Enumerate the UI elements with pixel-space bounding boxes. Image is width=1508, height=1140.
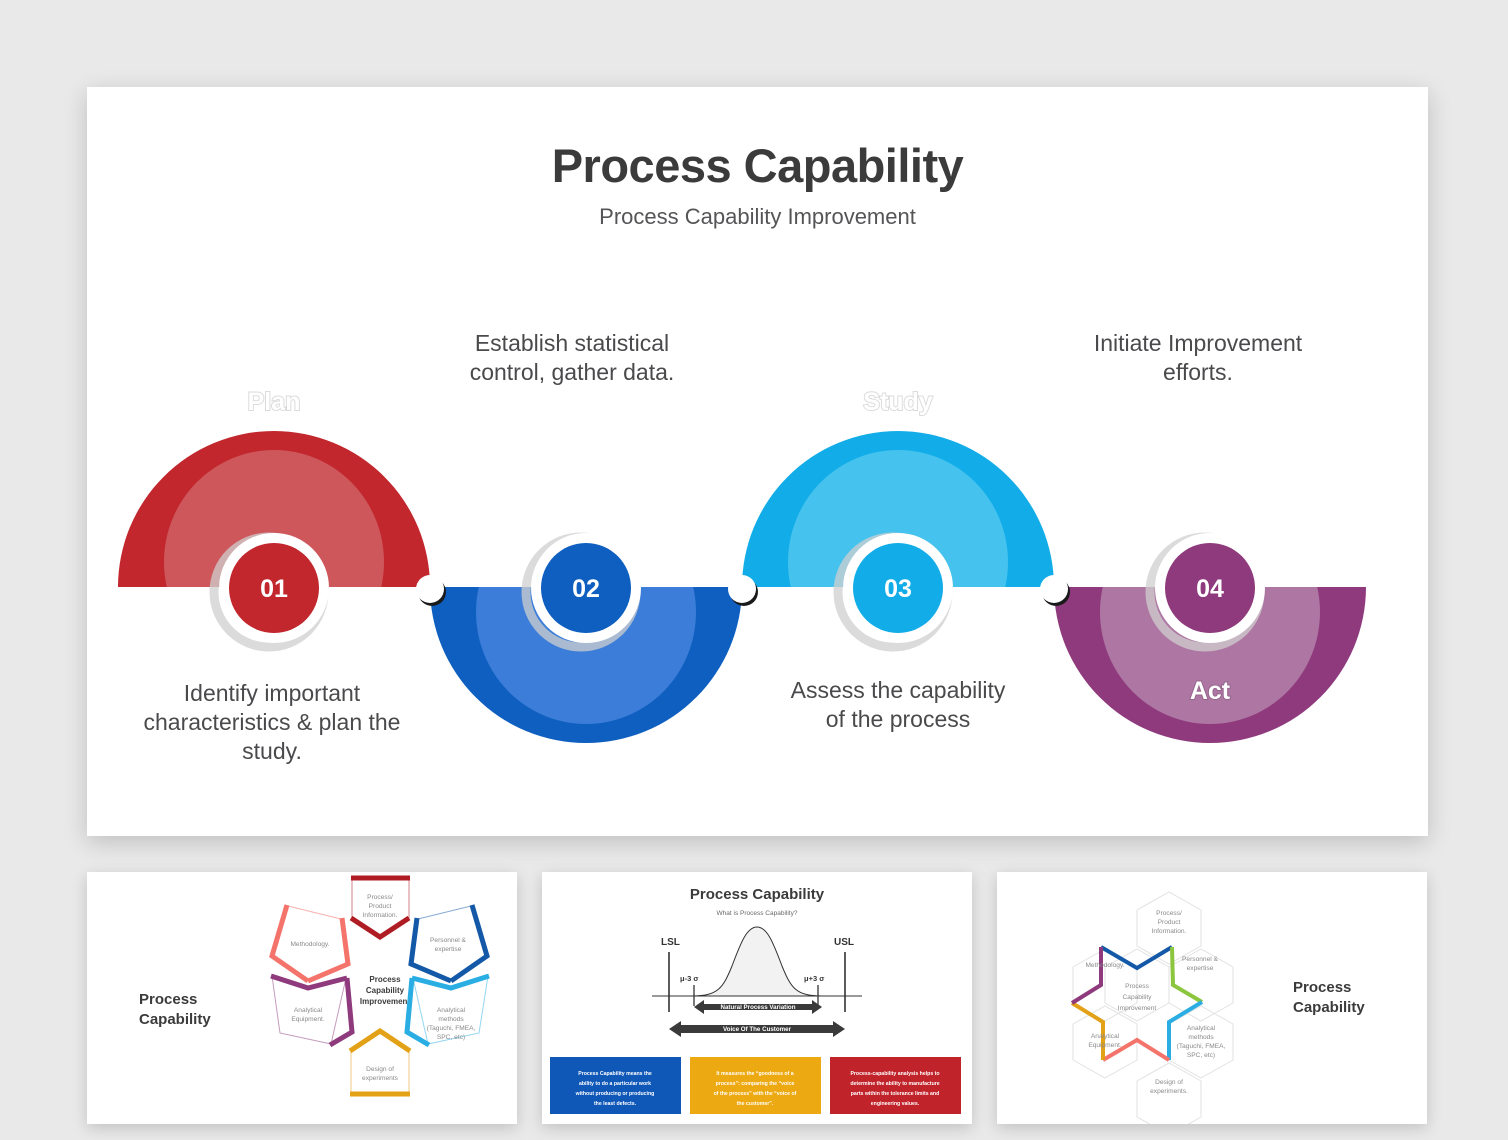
box3-line-1: Process-capability analysis helps to [850, 1071, 939, 1077]
thumb1-title: Process Capability [139, 991, 211, 1028]
thumb3-hex-personnel-expertise[interactable]: Personnel & expertise [1182, 956, 1219, 972]
step-2-number: 02 [572, 575, 600, 603]
junction-knob-1-2 [416, 575, 446, 606]
t3-hex4-line-1: Design of [1155, 1079, 1183, 1086]
step-1-number: 01 [260, 575, 288, 603]
t3-hex3-line-4: SPC, etc) [1187, 1052, 1215, 1059]
thumb1-hex-analytical-methods[interactable]: Analytical methods (Taguchi, FMEA, SPC, … [407, 976, 489, 1045]
step-3-description: Assess the capability of the process [791, 677, 1006, 732]
usl-label: USL [834, 937, 854, 948]
desc-4-line-1: Initiate Improvement [1094, 330, 1303, 356]
thumb1-center-line-3: Improvement [360, 997, 411, 1006]
box2-line-2: process”: comparing the “voice [716, 1081, 795, 1087]
t3-hex2-line-1: Personnel & [1182, 956, 1219, 963]
hex1-line-1: Process/ [367, 894, 393, 901]
box2-line-3: of the process” with the “voice of [714, 1091, 797, 1097]
thumb1-hex-design-of-experiments[interactable]: Design of experiments [350, 1031, 410, 1094]
hex4-chevron [350, 1031, 410, 1051]
thumb3-center-label: Process Capability Improvement [1118, 983, 1157, 1012]
desc-4-line-2: efforts. [1163, 359, 1233, 385]
thumb1-hex-personnel-expertise[interactable]: Personnel & expertise [411, 905, 487, 981]
thumb3-center-line-1: Process [1125, 983, 1150, 990]
thumb1-center-line-2: Capability [366, 986, 405, 995]
box1-line-2: ability to do a particular work [579, 1081, 651, 1087]
thumb1-hex-process-product-information[interactable]: Process/ Product Information. [351, 878, 410, 938]
thumb3-title: Process Capability [1293, 979, 1365, 1016]
box1-line-4: the least defects. [594, 1101, 637, 1107]
hex1-line-2: Product [369, 903, 392, 910]
thumb1-hex-methodology[interactable]: Methodology. [272, 905, 348, 981]
thumb2-title: Process Capability [690, 886, 825, 903]
step-3-label: Study [863, 388, 933, 416]
box1-line-3: without producing or producing [575, 1091, 655, 1097]
box2-line-1: It measures the “goodness of a [716, 1071, 793, 1077]
thumb3-hex-design-of-experiments[interactable]: Design of experiments. [1150, 1079, 1188, 1095]
thumbnail-slide-1[interactable]: Process Capability Process Capability Im… [87, 872, 517, 1124]
box2-line-4: the customer”. [737, 1101, 774, 1107]
plus-sigma-label: μ+3 σ [804, 974, 824, 983]
thumb3-hex-methodology[interactable]: Methodology. [1085, 962, 1124, 969]
desc-3-line-2: of the process [826, 706, 970, 732]
hex4-outline [351, 1032, 409, 1092]
hex1-line-3: Information. [363, 912, 398, 919]
step-3-number: 03 [884, 575, 912, 603]
bell-curve [692, 927, 822, 996]
hex6-line-1: Methodology. [290, 941, 329, 948]
junction-knob-3-4 [1040, 575, 1070, 606]
desc-3-line-1: Assess the capability [791, 677, 1006, 703]
thumb3-hex-analytical-equipment[interactable]: Analytical Equipment. [1088, 1033, 1122, 1049]
thumb3-center-line-2: Capability [1123, 994, 1153, 1001]
desc-2-line-1: Establish statistical [475, 330, 669, 356]
t3-hex3-line-3: (Taguchi, FMEA, [1177, 1043, 1226, 1050]
box1-line-1: Process Capability means the [578, 1071, 652, 1077]
t3-hex6-line-1: Methodology. [1085, 962, 1124, 969]
thumb3-center-line-3: Improvement [1118, 1005, 1157, 1012]
page-subtitle: Process Capability Improvement [87, 204, 1428, 230]
natural-process-variation-arrow: Natural Process Variation [694, 1000, 822, 1014]
hex3-line-2: methods [438, 1016, 464, 1023]
step-4-label: Act [1190, 677, 1231, 705]
thumb1-center-line-1: Process [369, 975, 401, 984]
t3-hex1-line-2: Product [1158, 919, 1181, 926]
thumb3-title-line-2: Capability [1293, 999, 1365, 1016]
t3-hex5-line-1: Analytical [1091, 1033, 1120, 1040]
step-1-number-badge[interactable]: 01 [214, 533, 329, 647]
step-4-number: 04 [1196, 575, 1224, 603]
voice-of-customer-arrow: Voice Of The Customer [669, 1021, 845, 1037]
lsl-label: LSL [661, 937, 680, 948]
t3-hex2-line-2: expertise [1187, 965, 1214, 972]
main-slide[interactable]: Process Capability Process Capability Im… [87, 87, 1428, 836]
t3-hex1-line-1: Process/ [1156, 910, 1182, 917]
step-1-label: Plan [248, 388, 301, 416]
star-stroke-purple [1072, 947, 1101, 1003]
hex6-accent2 [308, 918, 348, 981]
pdsa-cycle-diagram: Plan Study Act [87, 302, 1428, 772]
thumb3-hex-process-product-information[interactable]: Process/ Product Information. [1152, 910, 1187, 935]
natural-process-variation-text: Natural Process Variation [721, 1004, 796, 1011]
thumb1-title-line-1: Process [139, 991, 197, 1008]
hex2-line-1: Personnel & [430, 937, 467, 944]
thumb1-center-label: Process Capability Improvement [360, 975, 411, 1006]
step-4-description: Initiate Improvement efforts. [1094, 330, 1303, 385]
box3-line-4: engineering values. [871, 1101, 920, 1107]
hex1-chevron [351, 918, 409, 937]
info-box-3[interactable]: Process-capability analysis helps to det… [830, 1057, 961, 1114]
info-box-1[interactable]: Process Capability means the ability to … [550, 1057, 681, 1114]
desc-1-line-3: study. [242, 738, 302, 764]
step-3-number-badge[interactable]: 03 [838, 533, 953, 647]
hex4-line-1: Design of [366, 1066, 394, 1073]
desc-1-line-1: Identify important [184, 680, 361, 706]
page-title: Process Capability [87, 138, 1428, 193]
step-1-description: Identify important characteristics & pla… [144, 680, 401, 764]
thumb3-hex-analytical-methods[interactable]: Analytical methods (Taguchi, FMEA, SPC, … [1177, 1025, 1226, 1059]
thumbnail-slide-3[interactable]: Process Capability Process [997, 872, 1427, 1124]
t3-hex4-line-2: experiments. [1150, 1088, 1188, 1095]
step-2-description: Establish statistical control, gather da… [470, 330, 675, 385]
t3-hex3-line-1: Analytical [1187, 1025, 1216, 1032]
hex3-line-3: (Taguchi, FMEA, [427, 1025, 476, 1032]
t3-hex3-line-2: methods [1188, 1034, 1214, 1041]
desc-2-line-2: control, gather data. [470, 359, 675, 385]
minus-sigma-label: μ-3 σ [680, 974, 698, 983]
thumb2-subtitle: What is Process Capability? [717, 910, 798, 917]
box3-line-2: determine the ability to manufacture [850, 1081, 939, 1087]
thumb1-title-line-2: Capability [139, 1011, 211, 1028]
hex3-line-4: SPC, etc) [437, 1034, 465, 1041]
t3-hex5-line-2: Equipment. [1088, 1042, 1122, 1049]
slide-preview-page: Process Capability Process Capability Im… [0, 0, 1508, 1140]
hex5-line-2: Equipment. [291, 1016, 325, 1023]
box3-line-3: parts within the tolerance limits and [851, 1091, 940, 1097]
step-4-number-badge[interactable]: 04 [1150, 533, 1265, 647]
desc-1-line-2: characteristics & plan the [144, 709, 401, 735]
thumbnail-slide-2[interactable]: Process Capability What is Process Capab… [542, 872, 972, 1124]
hex2-line-2: expertise [435, 946, 462, 953]
star-stroke-orange [1072, 1003, 1103, 1060]
step-2-number-badge[interactable]: 02 [526, 533, 641, 647]
info-box-2[interactable]: It measures the “goodness of a process”:… [690, 1057, 821, 1114]
hex4-line-2: experiments [362, 1075, 399, 1082]
voice-of-customer-text: Voice Of The Customer [723, 1026, 792, 1033]
hex5-line-1: Analytical [294, 1007, 323, 1014]
thumb3-title-line-1: Process [1293, 979, 1351, 996]
thumb1-hex-analytical-equipment[interactable]: Analytical Equipment. [271, 976, 352, 1045]
hex3-line-1: Analytical [437, 1007, 466, 1014]
t3-hex1-line-3: Information. [1152, 928, 1187, 935]
